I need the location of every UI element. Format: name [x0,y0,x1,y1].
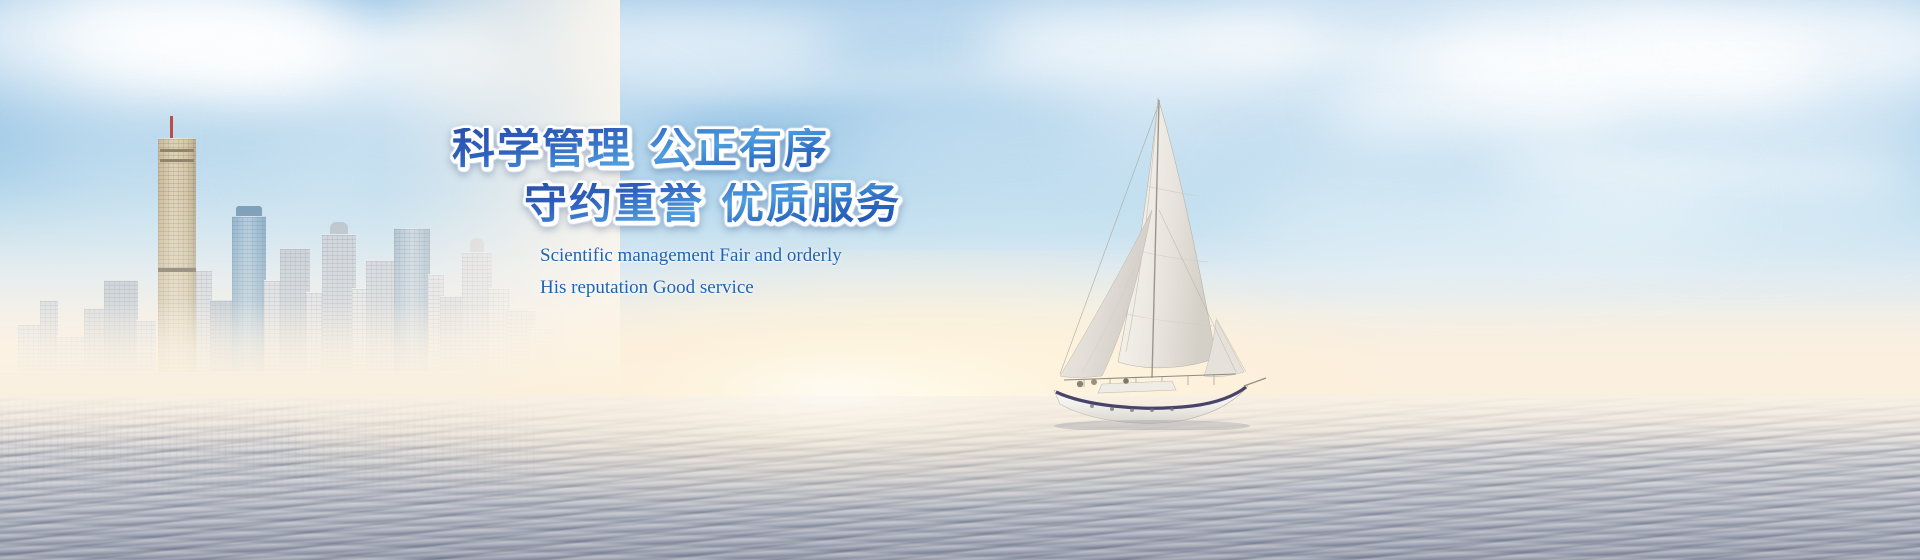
subtitle-block: Scientific management Fair and orderly H… [540,243,842,300]
main-sail [1118,98,1216,368]
tower-crown [236,206,262,216]
tower-band [160,159,194,162]
tower-band [160,149,194,152]
tower-crown [330,222,348,234]
crew-member [1091,379,1097,385]
headline-block: 科学管理 公正有序 守约重誉 优质服务 [440,128,1000,226]
headline-line-1: 科学管理 公正有序 [452,128,1000,171]
hull [1054,386,1248,423]
sailboat [1040,90,1270,430]
subtitle-line-2: His reputation Good service [540,275,842,300]
hero-banner: 科学管理 公正有序 守约重誉 优质服务 Scientific managemen… [0,0,1920,560]
city-reflection [0,398,540,508]
tower-antenna [170,116,173,138]
crew-member [1123,378,1129,384]
subtitle-line-1: Scientific management Fair and orderly [540,243,842,268]
tower-crown [470,238,484,252]
tower-band [158,268,196,272]
crew-member [1077,381,1083,387]
headline-line-2: 守约重誉 优质服务 [524,183,1000,226]
